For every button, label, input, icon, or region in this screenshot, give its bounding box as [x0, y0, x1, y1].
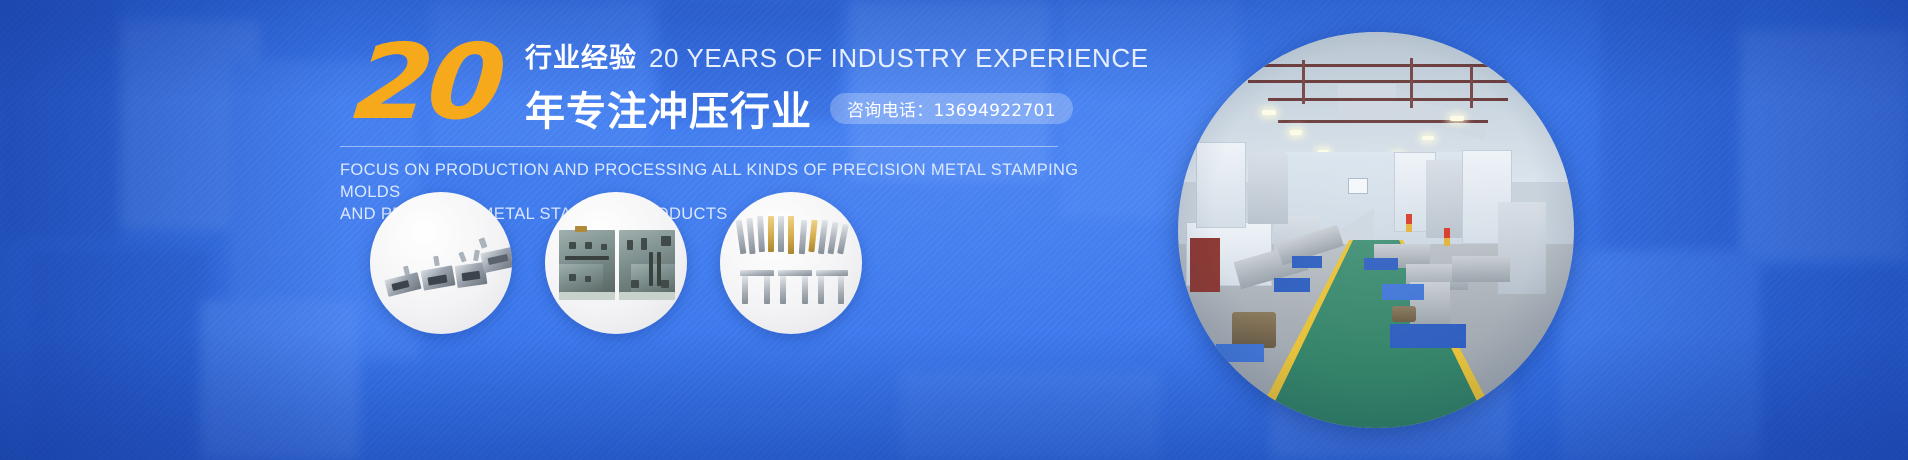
product-circle-metal-terminal-pins[interactable] — [720, 192, 862, 334]
progressive-stamping-die-image — [545, 192, 687, 334]
stamping-focus-label: 年专注冲压行业 — [525, 79, 812, 137]
metal-terminal-pins-image — [720, 192, 862, 334]
headline-line-2: 年专注冲压行业 咨询电话：13694922701 — [525, 79, 1149, 137]
product-circle-group — [370, 192, 862, 334]
headline-row: 20 行业经验 20 YEARS OF INDUSTRY EXPERIENCE … — [340, 34, 1100, 130]
years-experience-en-label: 20 YEARS OF INDUSTRY EXPERIENCE — [649, 43, 1149, 74]
years-number: 20 — [350, 30, 506, 134]
product-circle-progressive-stamping-die[interactable] — [545, 192, 687, 334]
phone-badge[interactable]: 咨询电话：13694922701 — [830, 93, 1073, 124]
industry-experience-label: 行业经验 — [525, 36, 637, 75]
headline-line-1: 行业经验 20 YEARS OF INDUSTRY EXPERIENCE — [525, 36, 1149, 75]
headline-divider — [340, 146, 1058, 147]
usb-connector-shells-image — [370, 192, 512, 334]
promo-banner: 20 行业经验 20 YEARS OF INDUSTRY EXPERIENCE … — [0, 0, 1908, 460]
factory-photo-circle[interactable] — [1178, 32, 1574, 428]
product-circle-usb-connector-shells[interactable] — [370, 192, 512, 334]
photo-vignette — [1178, 32, 1574, 428]
headline-text-group: 行业经验 20 YEARS OF INDUSTRY EXPERIENCE 年专注… — [525, 36, 1149, 137]
